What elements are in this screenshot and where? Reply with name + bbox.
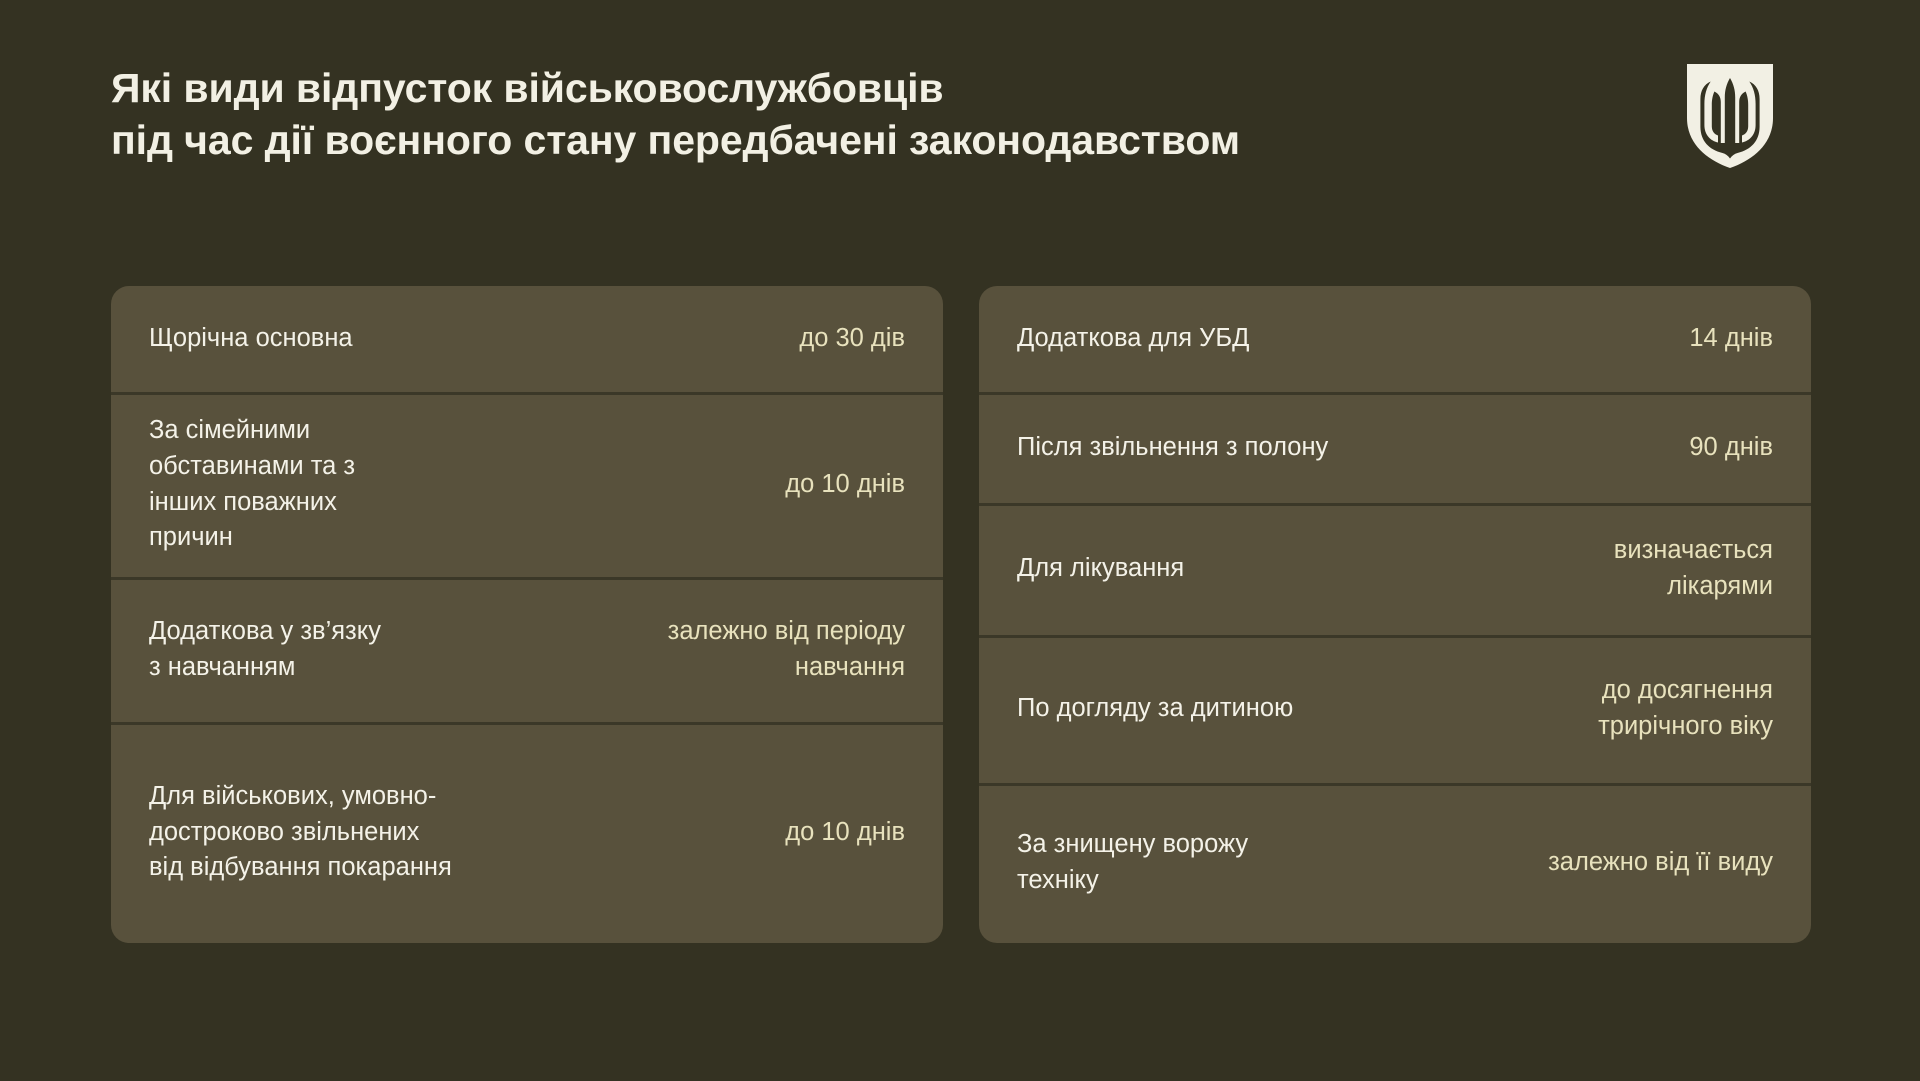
table-row: Для військових, умовно- достроково звіль… (111, 722, 943, 943)
row-value: залежно від періоду навчання (668, 614, 905, 685)
row-value: до 30 дів (799, 321, 905, 357)
row-value: до 10 днів (785, 467, 905, 503)
table-row: Щорічна основна до 30 дів (111, 286, 943, 392)
row-label: Для військових, умовно- достроково звіль… (149, 779, 785, 886)
title-line-1: Які види відпусток військовослужбовців (111, 62, 1240, 114)
table-row: Після звільнення з полону 90 днів (979, 392, 1811, 503)
row-value: 90 днів (1689, 430, 1773, 466)
row-label: Додаткова для УБД (1017, 321, 1689, 357)
infographic-page: Які види відпусток військовослужбовців п… (0, 0, 1920, 1081)
title-line-2: під час дії воєнного стану передбачені з… (111, 114, 1240, 166)
table-row: Додаткова для УБД 14 днів (979, 286, 1811, 392)
ukraine-armed-forces-trident-shield-emblem (1687, 64, 1773, 173)
row-value: залежно від її виду (1548, 845, 1773, 881)
header: Які види відпусток військовослужбовців п… (111, 62, 1811, 173)
table-row: За знищену ворожу техніку залежно від її… (979, 783, 1811, 943)
left-leave-card: Щорічна основна до 30 дів За сімейними о… (111, 286, 943, 943)
leave-types-columns: Щорічна основна до 30 дів За сімейними о… (111, 286, 1811, 943)
right-leave-card: Додаткова для УБД 14 днів Після звільнен… (979, 286, 1811, 943)
row-value: визначається лікарями (1614, 533, 1773, 604)
row-label: За знищену ворожу техніку (1017, 827, 1548, 898)
table-row: Для лікування визначається лікарями (979, 503, 1811, 635)
row-value: до 10 днів (785, 815, 905, 851)
row-label: Після звільнення з полону (1017, 430, 1689, 466)
row-label: За сімейними обставинами та з інших пова… (149, 413, 785, 556)
row-value: до досягнення трирічного віку (1598, 673, 1773, 744)
row-label: Для лікування (1017, 551, 1614, 587)
page-title: Які види відпусток військовослужбовців п… (111, 62, 1240, 167)
row-value: 14 днів (1689, 321, 1773, 357)
table-row: По догляду за дитиною до досягнення трир… (979, 635, 1811, 783)
row-label: Щорічна основна (149, 321, 799, 357)
table-row: За сімейними обставинами та з інших пова… (111, 392, 943, 577)
row-label: Додаткова у зв’язку з навчанням (149, 614, 668, 685)
row-label: По догляду за дитиною (1017, 691, 1598, 727)
table-row: Додаткова у зв’язку з навчанням залежно … (111, 577, 943, 722)
